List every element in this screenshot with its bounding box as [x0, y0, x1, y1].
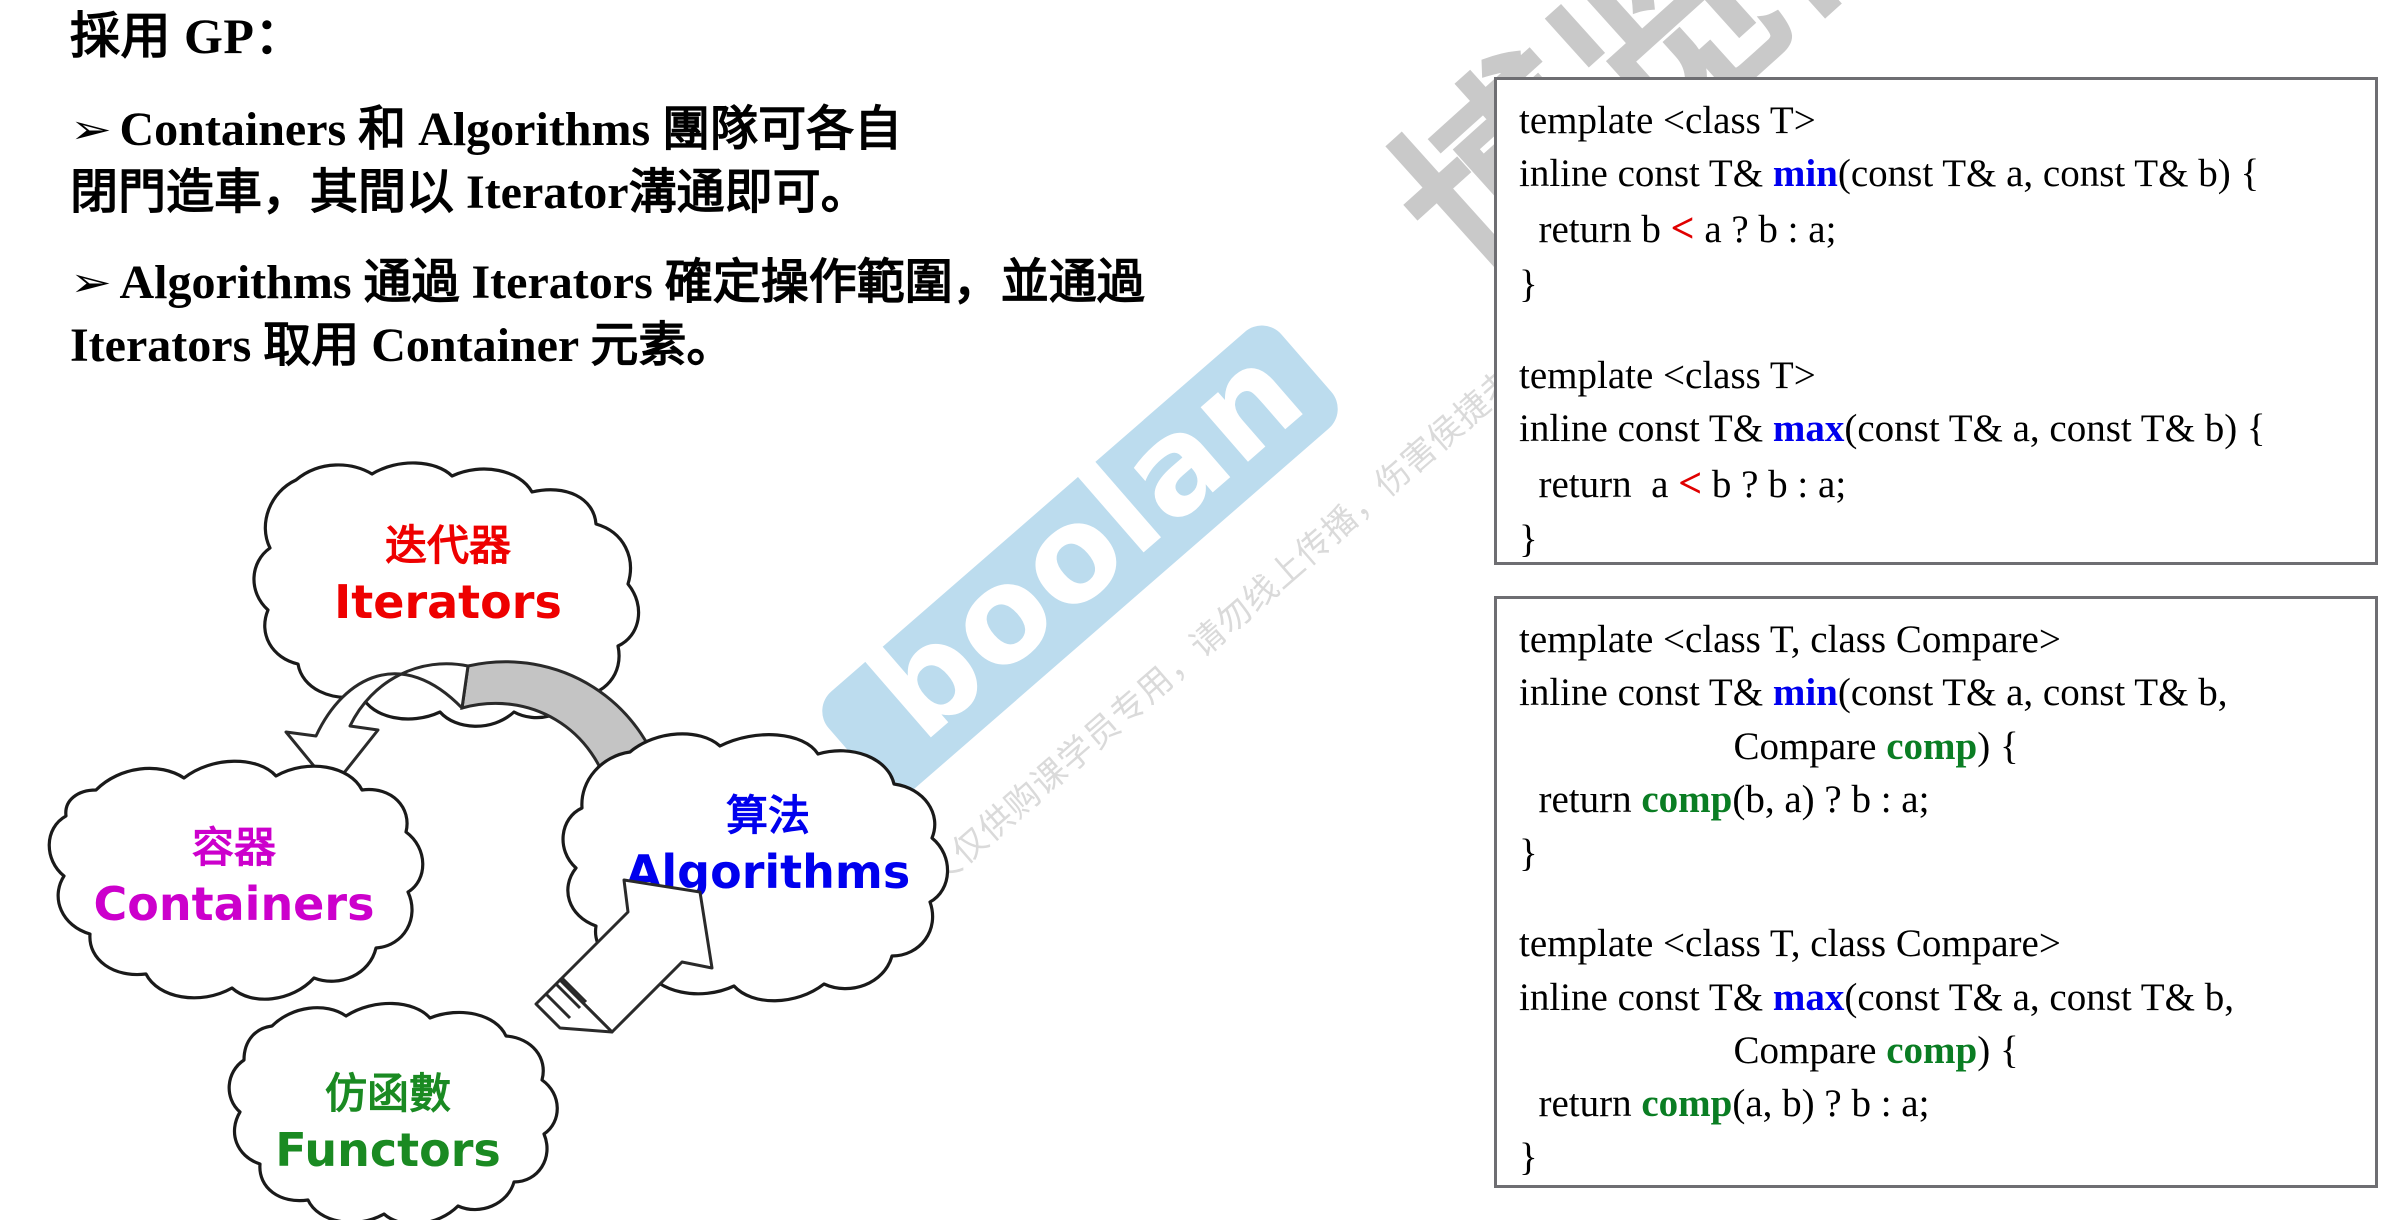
- diagram-node-functors-label-en: Functors: [275, 1123, 501, 1177]
- code-token: }: [1519, 832, 1538, 875]
- code-token: return: [1519, 1082, 1641, 1125]
- code-line: return a < b ? b : a;: [1519, 456, 2359, 514]
- code-line: inline const T& max(const T& a, const T&…: [1519, 971, 2359, 1024]
- code-token: template <class T>: [1519, 99, 1816, 142]
- diagram-node-containers-label-en: Containers: [94, 877, 375, 931]
- code-token-comp: comp: [1641, 1082, 1732, 1125]
- code-token: return b: [1519, 208, 1671, 251]
- code-token: (a, b) ? b : a;: [1732, 1082, 1929, 1125]
- code-token: inline const T&: [1519, 976, 1773, 1019]
- code-line: Compare comp) {: [1519, 1024, 2359, 1077]
- code-token: b ? b : a;: [1702, 463, 1846, 506]
- code-line: inline const T& min(const T& a, const T&…: [1519, 666, 2359, 719]
- code-line: inline const T& min(const T& a, const T&…: [1519, 147, 2359, 200]
- code-token: return: [1519, 778, 1641, 821]
- code-token: }: [1519, 1136, 1538, 1179]
- code-line: template <class T, class Compare>: [1519, 613, 2359, 666]
- bullet-arrow-icon: ➢: [70, 257, 112, 310]
- code-token: }: [1519, 263, 1538, 306]
- code-token: inline const T&: [1519, 407, 1773, 450]
- diagram-node-containers: 容器 Containers: [49, 761, 423, 999]
- code-token: a ? b : a;: [1695, 208, 1837, 251]
- code-token: }: [1519, 518, 1538, 561]
- code-token-fn: max: [1773, 976, 1845, 1019]
- code-token: ) {: [1977, 725, 2018, 768]
- code-line: }: [1519, 513, 2359, 565]
- diagram-node-functors: 仿函數 Functors: [229, 1003, 557, 1220]
- code-token-comp: comp: [1641, 778, 1732, 821]
- diagram-node-functors-label-cn: 仿函數: [325, 1069, 451, 1118]
- bullet-item-2: ➢Algorithms 通過 Iterators 確定操作範圍，並通過 Iter…: [70, 251, 1400, 378]
- code-token: (const T& a, const T& b) {: [1844, 407, 2265, 450]
- code-token: ) {: [1977, 1029, 2018, 1072]
- code-token: Compare: [1519, 1029, 1886, 1072]
- diagram-node-iterators-label-en: Iterators: [334, 575, 562, 629]
- bullet-item-1: ➢Containers 和 Algorithms 團隊可各自 閉門造車，其間以 …: [70, 98, 1400, 225]
- code-token-fn: min: [1773, 152, 1838, 195]
- code-line: }: [1519, 1131, 2359, 1184]
- code-token: template <class T, class Compare>: [1519, 922, 2061, 965]
- code-token: inline const T&: [1519, 152, 1773, 195]
- code-token: template <class T, class Compare>: [1519, 618, 2061, 661]
- code-token-fn: max: [1773, 407, 1845, 450]
- code-token: template <class T>: [1519, 354, 1816, 397]
- bullet-item-2-text: Algorithms 通過 Iterators 確定操作範圍，並通過 Itera…: [70, 256, 1145, 372]
- code-token: (const T& a, const T& b,: [1838, 671, 2228, 714]
- code-token: (b, a) ? b : a;: [1732, 778, 1929, 821]
- code-block-basic-minmax: template <class T>inline const T& min(co…: [1494, 77, 2378, 565]
- code-line: }: [1519, 827, 2359, 880]
- code-block-compare-minmax: template <class T, class Compare>inline …: [1494, 596, 2378, 1188]
- code-line: }: [1519, 258, 2359, 311]
- slide-text-block: 採用 GP： ➢Containers 和 Algorithms 團隊可各自 閉門…: [70, 8, 1400, 403]
- code-line: template <class T>: [1519, 349, 2359, 402]
- code-line: Compare comp) {: [1519, 720, 2359, 773]
- gp-concept-diagram: 迭代器 Iterators 容器 Containers 算法 Algorithm…: [0, 440, 1060, 1220]
- code-line: return comp(b, a) ? b : a;: [1519, 773, 2359, 826]
- code-token: Compare: [1519, 725, 1886, 768]
- code-line: return comp(a, b) ? b : a;: [1519, 1077, 2359, 1130]
- code-token: inline const T&: [1519, 671, 1773, 714]
- code-blank-line: [1519, 880, 2359, 917]
- diagram-node-algorithms-label-cn: 算法: [726, 791, 810, 840]
- code-token-op: <: [1678, 461, 1702, 507]
- diagram-node-iterators-label-cn: 迭代器: [385, 521, 512, 570]
- code-line: template <class T>: [1519, 94, 2359, 147]
- bullet-item-1-text: Containers 和 Algorithms 團隊可各自 閉門造車，其間以 I…: [70, 103, 902, 219]
- code-token-comp: comp: [1886, 1029, 1977, 1072]
- code-token: (const T& a, const T& b) {: [1838, 152, 2259, 195]
- code-line: template <class T, class Compare>: [1519, 917, 2359, 970]
- code-token-comp: comp: [1886, 725, 1977, 768]
- code-line: return b < a ? b : a;: [1519, 201, 2359, 259]
- code-token: (const T& a, const T& b,: [1844, 976, 2234, 1019]
- code-blank-line: [1519, 312, 2359, 349]
- diagram-node-containers-label-cn: 容器: [192, 823, 277, 872]
- bullet-arrow-icon: ➢: [70, 104, 112, 157]
- code-token: return a: [1519, 463, 1678, 506]
- code-line: inline const T& max(const T& a, const T&…: [1519, 402, 2359, 455]
- code-token-fn: min: [1773, 671, 1838, 714]
- code-token-op: <: [1671, 206, 1695, 252]
- page-title: 採用 GP：: [70, 8, 1400, 64]
